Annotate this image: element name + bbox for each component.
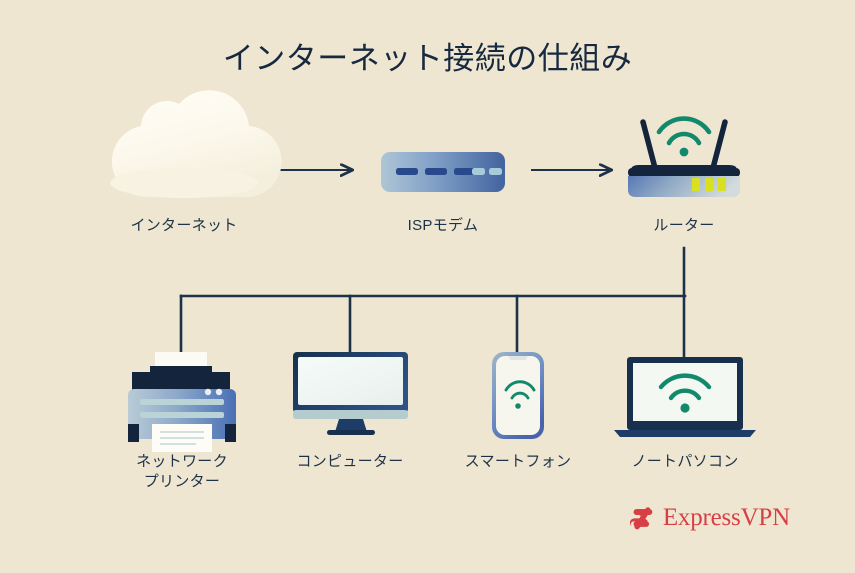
laptop-icon	[614, 357, 756, 437]
label-network-printer: ネットワーク プリンター	[102, 452, 262, 493]
smartphone-icon	[492, 352, 544, 439]
expressvpn-logo-mark-icon	[630, 501, 654, 535]
label-computer: コンピューター	[270, 452, 430, 472]
brand-logo: ExpressVPN	[630, 498, 790, 538]
label-smartphone: スマートフォン	[438, 452, 598, 472]
printer-icon	[128, 352, 236, 452]
label-network-printer-line1: ネットワーク	[136, 453, 228, 470]
label-laptop: ノートパソコン	[605, 452, 765, 472]
label-network-printer-line2: プリンター	[144, 473, 221, 490]
desktop-monitor-icon	[293, 352, 408, 435]
brand-wordmark: ExpressVPN	[663, 504, 790, 532]
diagram-canvas: インターネット接続の仕組み	[0, 0, 855, 573]
